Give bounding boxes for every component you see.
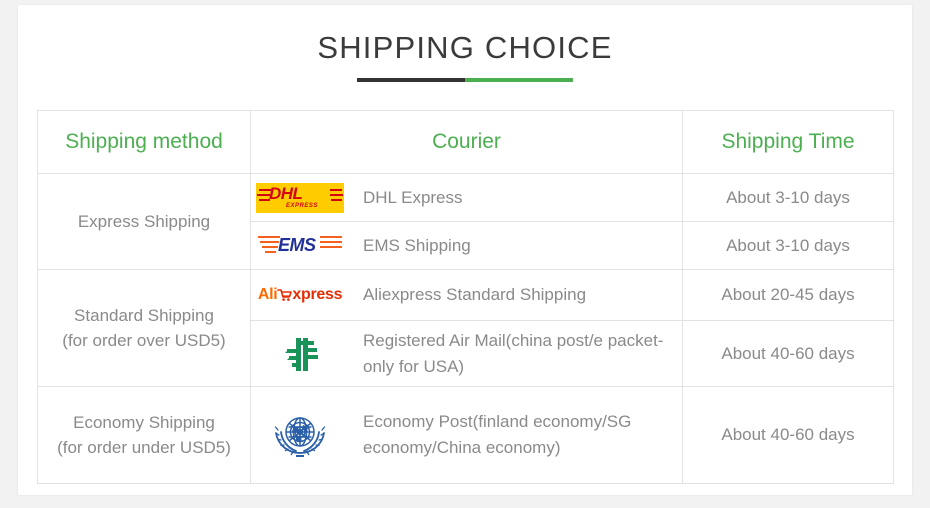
shipping-time: About 3-10 days bbox=[683, 174, 894, 222]
courier-cell-dhl: DHL EXPRESS DHL Express bbox=[251, 174, 683, 222]
title-underline-dark bbox=[357, 78, 465, 82]
aliexpress-logo: Ali xpress bbox=[258, 286, 342, 304]
title-underline-green bbox=[465, 78, 573, 82]
shipping-method-economy-line2: (for order under USD5) bbox=[38, 435, 250, 460]
shopping-cart-icon bbox=[277, 288, 292, 302]
china-post-logo bbox=[277, 332, 323, 376]
ems-logo-word: EMS bbox=[278, 235, 316, 256]
shipping-choice-card: SHIPPING CHOICE Shipping method Courier … bbox=[18, 5, 912, 495]
shipping-method-economy: Economy Shipping (for order under USD5) bbox=[38, 387, 251, 484]
page-title: SHIPPING CHOICE bbox=[18, 29, 912, 67]
aliexpress-logo-slot: Ali xpress bbox=[251, 286, 349, 304]
shipping-time: About 3-10 days bbox=[683, 222, 894, 270]
dhl-logo-slot: DHL EXPRESS bbox=[251, 183, 349, 213]
title-underline bbox=[357, 78, 573, 82]
shipping-method-standard-line1: Standard Shipping bbox=[38, 303, 250, 328]
shipping-time: About 40-60 days bbox=[683, 387, 894, 484]
shipping-method-standard: Standard Shipping (for order over USD5) bbox=[38, 270, 251, 387]
china-post-logo-slot bbox=[251, 332, 349, 376]
un-logo-slot bbox=[251, 406, 349, 464]
shipping-table: Shipping method Courier Shipping Time Ex… bbox=[37, 110, 894, 484]
column-header-courier: Courier bbox=[251, 111, 683, 174]
courier-name: Aliexpress Standard Shipping bbox=[363, 282, 586, 308]
dhl-logo-word: DHL bbox=[269, 184, 302, 204]
shipping-method-express: Express Shipping bbox=[38, 174, 251, 270]
aliexpress-logo-part1: Ali bbox=[258, 286, 278, 304]
ems-logo-slot: EMS bbox=[251, 232, 349, 260]
aliexpress-logo-part2: xpress bbox=[292, 286, 342, 304]
title-block: SHIPPING CHOICE bbox=[18, 29, 912, 82]
courier-name: EMS Shipping bbox=[363, 233, 471, 259]
shipping-time: About 40-60 days bbox=[683, 321, 894, 387]
shipping-method-economy-line1: Economy Shipping bbox=[38, 410, 250, 435]
courier-cell-china-post: Registered Air Mail(china post/e packet-… bbox=[251, 321, 683, 387]
courier-name: DHL Express bbox=[363, 185, 463, 211]
column-header-shipping-method: Shipping method bbox=[38, 111, 251, 174]
table-row: Economy Shipping (for order under USD5) bbox=[38, 387, 894, 484]
un-logo bbox=[269, 406, 331, 464]
courier-cell-economy-post: Economy Post(finland economy/SG economy/… bbox=[251, 387, 683, 484]
table-row: Express Shipping DHL EXPRESS DHL Express bbox=[38, 174, 894, 222]
courier-name: Registered Air Mail(china post/e packet-… bbox=[363, 328, 682, 380]
table-row: Standard Shipping (for order over USD5) … bbox=[38, 270, 894, 321]
dhl-logo: DHL EXPRESS bbox=[256, 183, 344, 213]
table-header-row: Shipping method Courier Shipping Time bbox=[38, 111, 894, 174]
dhl-logo-subword: EXPRESS bbox=[286, 203, 318, 209]
shipping-time: About 20-45 days bbox=[683, 270, 894, 321]
courier-cell-ems: EMS EMS Shipping bbox=[251, 222, 683, 270]
column-header-shipping-time: Shipping Time bbox=[683, 111, 894, 174]
courier-name: Economy Post(finland economy/SG economy/… bbox=[363, 409, 682, 461]
ems-logo: EMS bbox=[258, 232, 342, 260]
courier-cell-aliexpress: Ali xpress bbox=[251, 270, 683, 321]
shipping-method-standard-line2: (for order over USD5) bbox=[38, 328, 250, 353]
